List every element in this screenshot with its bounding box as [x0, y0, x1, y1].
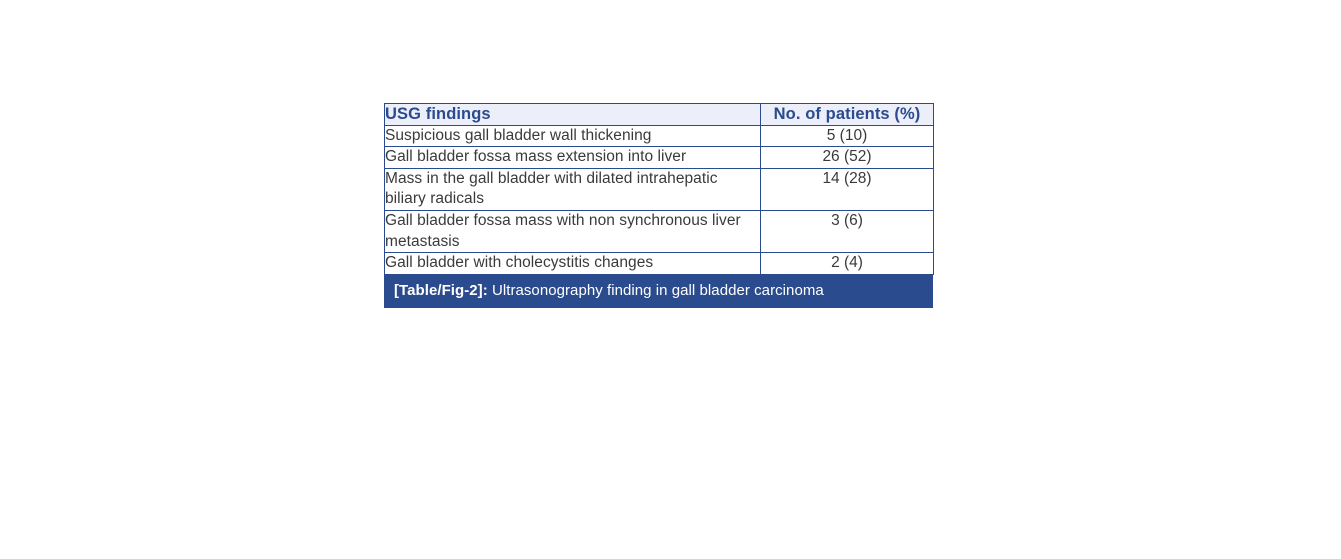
table-figure: USG findings No. of patients (%) Suspici… — [384, 103, 933, 308]
table-row: Gall bladder with cholecystitis changes … — [385, 253, 934, 275]
table-caption: [Table/Fig-2]: Ultrasonography finding i… — [384, 275, 933, 308]
table-row: Gall bladder fossa mass extension into l… — [385, 147, 934, 169]
column-header-no-of-patients: No. of patients (%) — [761, 104, 934, 126]
cell-count: 5 (10) — [761, 125, 934, 147]
caption-label: [Table/Fig-2]: — [394, 282, 488, 299]
cell-finding: Gall bladder fossa mass with non synchro… — [385, 211, 761, 253]
table-header-row: USG findings No. of patients (%) — [385, 104, 934, 126]
cell-finding: Suspicious gall bladder wall thickening — [385, 125, 761, 147]
cell-count: 26 (52) — [761, 147, 934, 169]
caption-text: Ultrasonography finding in gall bladder … — [488, 282, 824, 299]
cell-count: 2 (4) — [761, 253, 934, 275]
cell-finding: Gall bladder with cholecystitis changes — [385, 253, 761, 275]
cell-count: 3 (6) — [761, 211, 934, 253]
table-header: USG findings No. of patients (%) — [385, 104, 934, 126]
table-row: Suspicious gall bladder wall thickening … — [385, 125, 934, 147]
cell-count: 14 (28) — [761, 168, 934, 210]
table-body: Suspicious gall bladder wall thickening … — [385, 125, 934, 274]
usg-findings-table: USG findings No. of patients (%) Suspici… — [384, 103, 934, 275]
cell-finding: Gall bladder fossa mass extension into l… — [385, 147, 761, 169]
table-row: Gall bladder fossa mass with non synchro… — [385, 211, 934, 253]
column-header-usg-findings: USG findings — [385, 104, 761, 126]
cell-finding: Mass in the gall bladder with dilated in… — [385, 168, 761, 210]
table-row: Mass in the gall bladder with dilated in… — [385, 168, 934, 210]
